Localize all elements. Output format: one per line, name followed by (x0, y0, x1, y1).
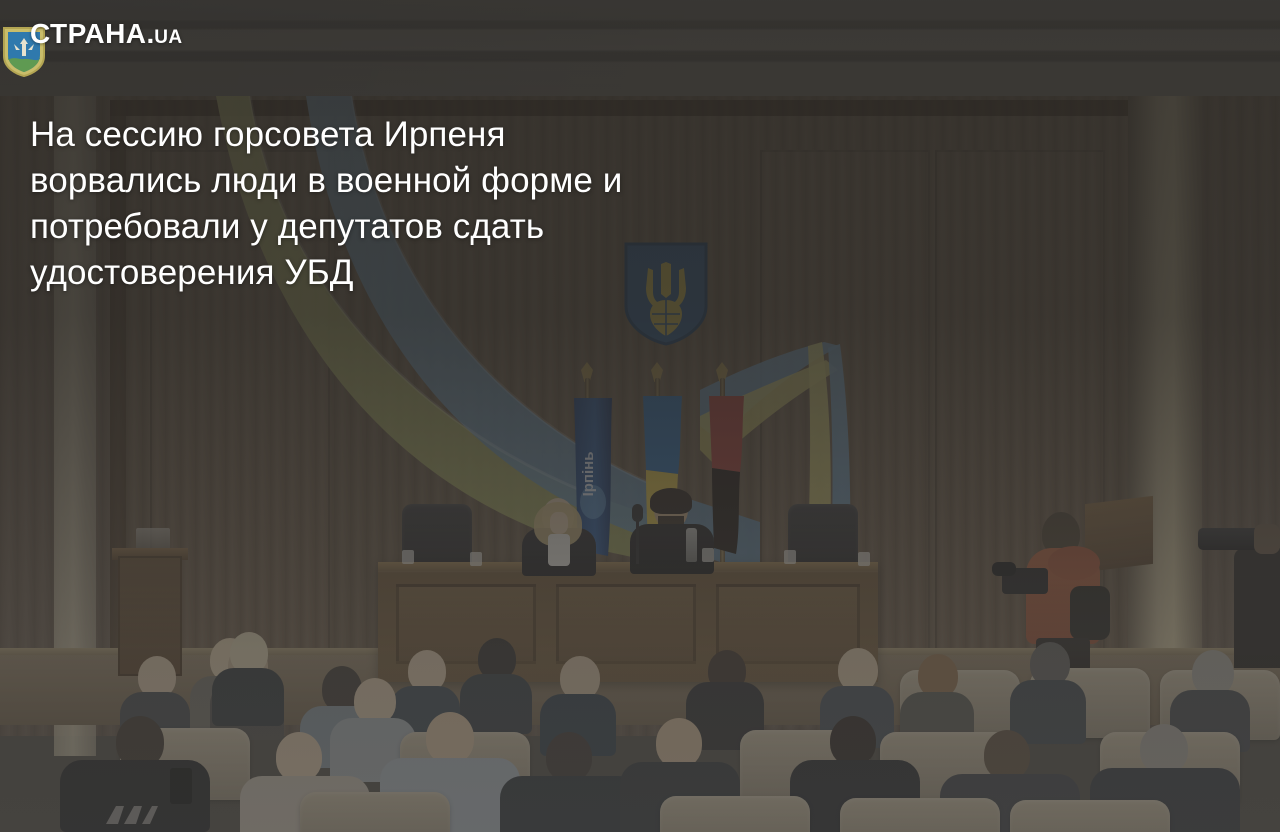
site-logo-tld: UA (154, 28, 182, 47)
article-headline: На сессию горсовета Ирпеня ворвались люд… (30, 112, 630, 296)
site-logo[interactable]: СТРАНА.UA (30, 20, 183, 48)
article-hero-card: Ірпінь (0, 0, 1280, 832)
site-logo-text: СТРАНА.UA (30, 20, 183, 48)
site-logo-name: СТРАНА (30, 20, 147, 48)
